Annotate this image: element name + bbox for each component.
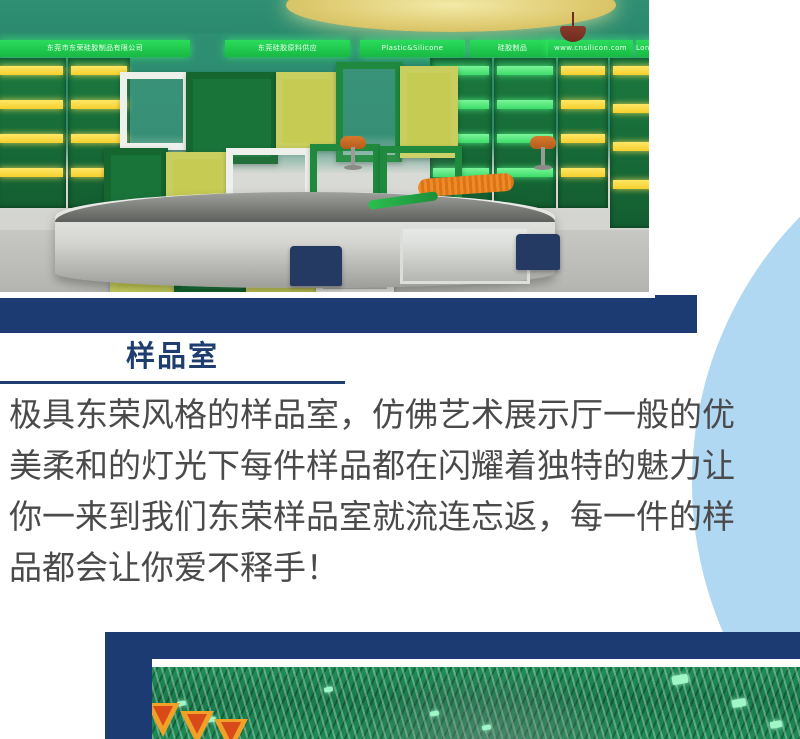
navy-divider-band bbox=[0, 295, 697, 333]
wall-shelf-right-4 bbox=[610, 58, 649, 228]
wall-sign-3-text: Plastic&Silicone bbox=[360, 40, 465, 57]
section-paragraph: 极具东荣风格的样品室，仿佛艺术展示厅一般的优 美柔和的灯光下每件样品都在闪耀着独… bbox=[9, 389, 789, 593]
wall-sign-1-text: 东莞市东荣硅胶制品有限公司 bbox=[0, 40, 190, 57]
bunting-flag-2 bbox=[180, 711, 214, 739]
wall-sign-6: Longsheng bbox=[636, 40, 649, 57]
wall-shelf-right-3 bbox=[558, 58, 608, 208]
bunting-flag-1 bbox=[152, 703, 180, 737]
wall-sign-2: 东莞硅胶原料供应 bbox=[225, 40, 350, 57]
bar-stool-2 bbox=[530, 136, 556, 170]
wall-sign-1: 东莞市东荣硅胶制品有限公司 bbox=[0, 40, 190, 57]
wall-sign-6-text: Longsheng bbox=[636, 40, 649, 57]
wall-sign-4-text: 硅胶制品 bbox=[470, 40, 555, 57]
bottom-photo-frame bbox=[152, 659, 800, 739]
display-cube-5 bbox=[400, 66, 458, 158]
paragraph-line-1: 极具东荣风格的样品室，仿佛艺术展示厅一般的优 bbox=[9, 389, 789, 440]
paragraph-line-2: 美柔和的灯光下每件样品都在闪耀着独特的魅力让 bbox=[9, 440, 789, 491]
lounge-chair-1 bbox=[290, 246, 342, 286]
wall-sign-2-text: 东莞硅胶原料供应 bbox=[225, 40, 350, 57]
title-underline-rule bbox=[0, 381, 345, 384]
promo-page: 东莞市东荣硅胶制品有限公司 东莞硅胶原料供应 Plastic&Silicone … bbox=[0, 0, 800, 739]
bunting-flag-3 bbox=[214, 719, 248, 739]
glass-display-table bbox=[400, 226, 530, 284]
bar-stool-1 bbox=[340, 136, 366, 170]
wall-sign-5: www.cnsilicon.com bbox=[548, 40, 633, 57]
showroom-photo-frame: 东莞市东荣硅胶制品有限公司 东莞硅胶原料供应 Plastic&Silicone … bbox=[0, 0, 655, 298]
wall-shelf-left-1 bbox=[0, 58, 66, 208]
wall-sign-4: 硅胶制品 bbox=[470, 40, 555, 57]
paragraph-line-3: 你一来到我们东荣样品室就流连忘返，每一件的样 bbox=[9, 491, 789, 542]
mesh-ceiling-photo bbox=[152, 667, 800, 739]
display-cube-3 bbox=[276, 72, 338, 150]
mesh-shadow-area bbox=[346, 667, 638, 739]
wall-sign-5-text: www.cnsilicon.com bbox=[548, 40, 633, 57]
showroom-photo: 东莞市东荣硅胶制品有限公司 东莞硅胶原料供应 Plastic&Silicone … bbox=[0, 0, 649, 292]
section-title: 样品室 bbox=[0, 336, 345, 376]
paragraph-line-4: 品都会让你爱不释手！ bbox=[9, 542, 789, 593]
wall-sign-3: Plastic&Silicone bbox=[360, 40, 465, 57]
display-cube-1 bbox=[120, 72, 190, 150]
lounge-chair-2 bbox=[516, 234, 560, 270]
